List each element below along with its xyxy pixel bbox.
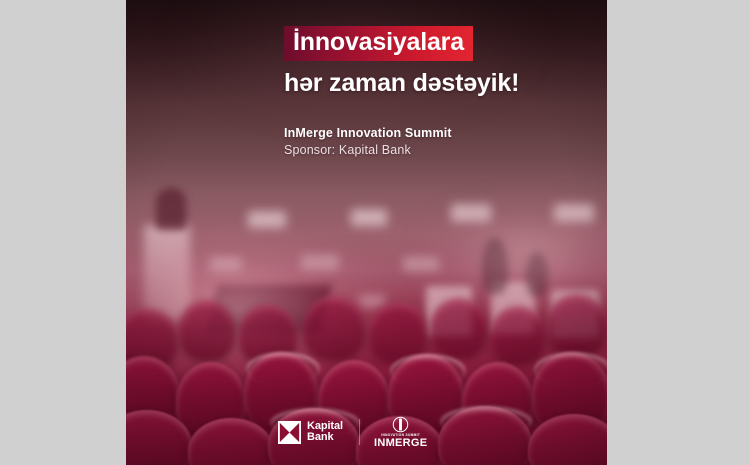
audience-head-rimlight bbox=[390, 354, 466, 388]
headline-highlighted-word: İnnovasiyalara bbox=[284, 26, 473, 61]
kapital-bank-logo: Kapital Bank bbox=[278, 421, 343, 445]
kapital-bank-wordmark: Kapital Bank bbox=[307, 421, 343, 445]
poster-subtitle-block: InMerge Innovation Summit Sponsor: Kapit… bbox=[284, 125, 607, 159]
logo-divider bbox=[359, 419, 360, 445]
inmerge-logo: INNOVATION SUMMIT INMERGE bbox=[374, 416, 427, 449]
audience-head bbox=[430, 298, 488, 358]
kapital-bank-logomark-icon bbox=[278, 421, 301, 444]
audience-head bbox=[490, 306, 546, 364]
promotional-poster-image: İnnovasiyalara hər zaman dəstəyik! InMer… bbox=[126, 0, 607, 465]
sponsor-text: Sponsor: Kapital Bank bbox=[284, 142, 607, 159]
audience-head-rimlight bbox=[534, 352, 607, 388]
inmerge-logomark-icon bbox=[392, 416, 409, 433]
event-name-text: InMerge Innovation Summit bbox=[284, 125, 607, 142]
inmerge-wordmark: INMERGE bbox=[374, 438, 427, 449]
kapital-word-line2: Bank bbox=[307, 432, 343, 444]
audience-head bbox=[546, 294, 607, 356]
audience-head bbox=[178, 300, 236, 360]
audience-head bbox=[302, 296, 366, 360]
poster-text-block: İnnovasiyalara hər zaman dəstəyik! InMer… bbox=[284, 26, 607, 159]
audience-head-rimlight bbox=[246, 352, 320, 386]
headline-second-line: hər zaman dəstəyik! bbox=[284, 70, 607, 97]
logo-lockup: Kapital Bank INNOVATION SUMMIT INMERGE bbox=[278, 416, 427, 449]
audience-head-rimlight bbox=[440, 406, 532, 438]
screenshot-canvas: İnnovasiyalara hər zaman dəstəyik! InMer… bbox=[0, 0, 750, 465]
